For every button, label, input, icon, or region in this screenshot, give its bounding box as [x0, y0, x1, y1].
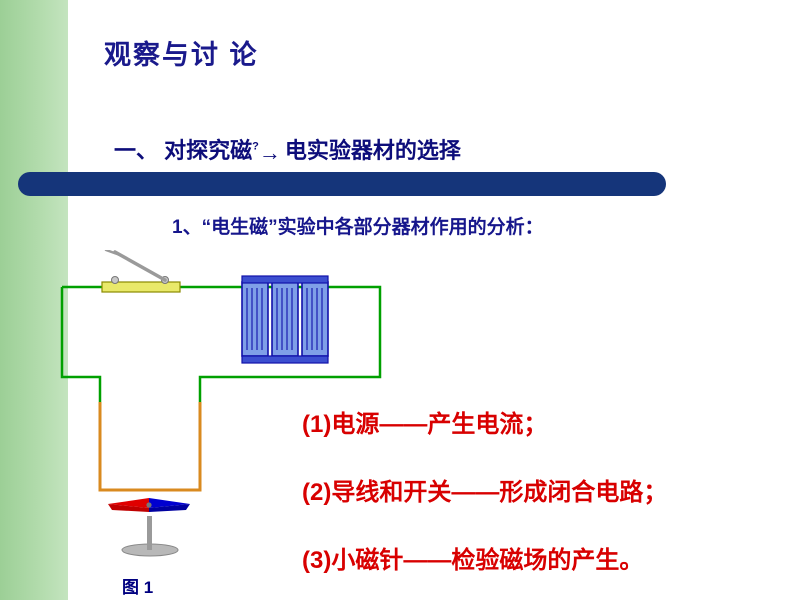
switch-terminal-left	[112, 277, 119, 284]
battery-pack	[242, 276, 328, 363]
section-heading: 一、 对探究磁?→电实验器材的选择	[114, 133, 461, 165]
divider-bar	[18, 172, 666, 196]
needle-pivot	[146, 502, 151, 507]
coil	[100, 402, 200, 490]
page-title: 观察与讨 论	[104, 33, 259, 72]
battery-cell-2	[272, 282, 298, 356]
battery-cell-3	[302, 282, 328, 356]
switch	[102, 250, 180, 292]
battery-bottom-cap	[242, 356, 328, 363]
compass-needle	[108, 498, 190, 556]
section-heading-suffix: 电实验器材的选择	[285, 138, 461, 163]
wire-loop	[62, 287, 380, 402]
figure-caption: 图 1	[122, 573, 153, 598]
question-mark-superscript: ?	[252, 141, 259, 153]
compass-stand	[147, 516, 152, 550]
left-green-band	[0, 0, 68, 600]
arrow-right-icon: →	[259, 140, 285, 166]
switch-lever	[115, 252, 165, 280]
subsection-title: 1、“电生磁”实验中各部分器材作用的分析：	[172, 212, 544, 239]
battery-top-cap	[242, 276, 328, 283]
section-heading-prefix: 一、 对探究磁	[114, 138, 252, 163]
green-band-gradient	[0, 0, 68, 600]
battery-cell-1	[242, 282, 268, 356]
circuit-diagram	[60, 250, 400, 590]
